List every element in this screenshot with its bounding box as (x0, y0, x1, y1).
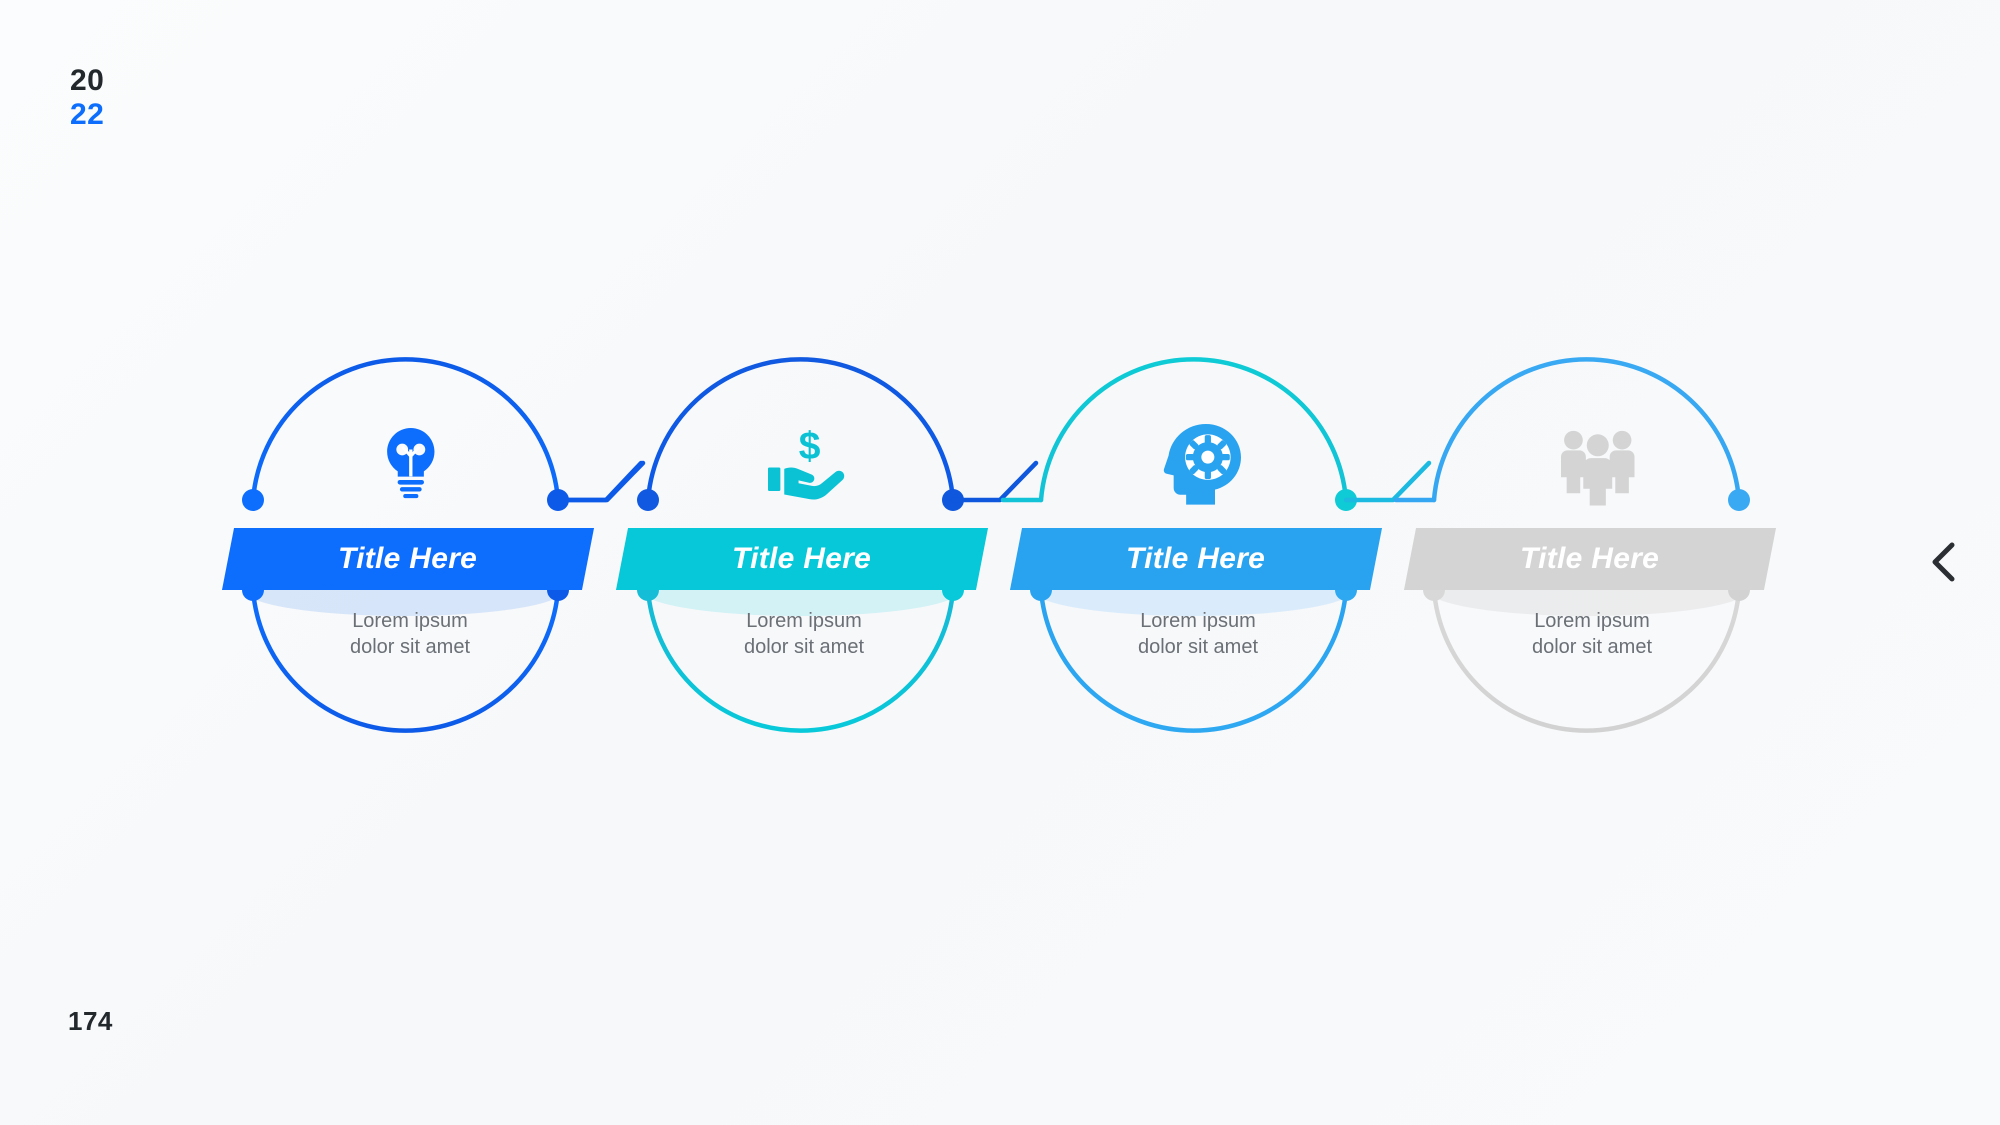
step-3-title: Title Here (1126, 542, 1265, 576)
svg-text:$: $ (799, 425, 821, 468)
step-4-title: Title Here (1520, 542, 1659, 576)
connector-3-4 (1346, 463, 1429, 500)
slide-canvas: 20 22 174 (0, 0, 2000, 1125)
node-dot (637, 489, 659, 511)
step-3-subtitle: Lorem ipsum dolor sit amet (1043, 608, 1353, 661)
node-dot (1728, 489, 1750, 511)
step-1-title: Title Here (338, 542, 477, 576)
step-4-banner[interactable]: Title Here (1404, 528, 1776, 590)
step-2-title: Title Here (732, 542, 871, 576)
connector-2-3 (953, 463, 1036, 500)
step-3-banner[interactable]: Title Here (1010, 528, 1382, 590)
lightbulb-icon (387, 428, 434, 498)
step-1-banner[interactable]: Title Here (222, 528, 594, 590)
step-1-subtitle: Lorem ipsum dolor sit amet (255, 608, 565, 661)
step-4-subtitle: Lorem ipsum dolor sit amet (1437, 608, 1747, 661)
people-group-icon (1561, 431, 1634, 506)
step-2-banner[interactable]: Title Here (616, 528, 988, 590)
head-gear-icon (1164, 424, 1241, 505)
hand-holding-dollar-icon: $ (768, 425, 844, 499)
step-2-subtitle: Lorem ipsum dolor sit amet (649, 608, 959, 661)
node-dot (242, 489, 264, 511)
